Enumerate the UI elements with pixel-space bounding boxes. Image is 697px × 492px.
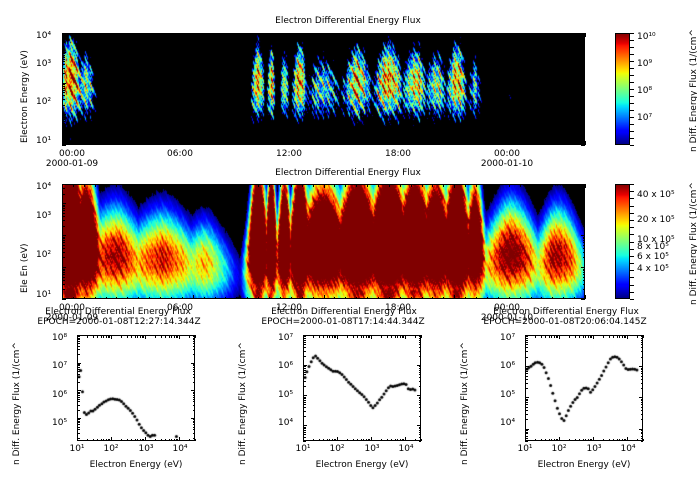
axis-tick (583, 289, 586, 290)
axis-tick (182, 184, 183, 187)
axis-tick (337, 335, 338, 339)
axis-tick (62, 269, 65, 270)
axis-tick (62, 289, 65, 290)
axis-tick (135, 439, 136, 442)
axis-tick (554, 335, 555, 338)
line3-xtick-0: 10¹ (506, 444, 544, 454)
colorbar-tick (630, 242, 634, 243)
axis-tick (545, 335, 546, 338)
axis-tick (419, 351, 422, 352)
axis-tick (225, 297, 226, 300)
axis-tick (62, 83, 66, 84)
axis-tick (62, 299, 66, 300)
axis-tick (345, 33, 346, 36)
axis-tick (581, 83, 585, 84)
axis-tick (509, 297, 510, 300)
axis-tick (62, 141, 63, 145)
axis-tick (641, 379, 644, 380)
axis-tick (193, 371, 196, 372)
axis-tick (77, 433, 80, 434)
colorbar-tick (630, 82, 634, 83)
axis-tick (140, 335, 141, 338)
axis-tick (182, 143, 183, 146)
axis-tick (641, 383, 644, 384)
axis-tick (617, 439, 618, 442)
spec2-cbtick-1: 20 x 10⁵ (637, 215, 675, 225)
axis-tick (103, 439, 104, 442)
axis-tick (247, 143, 248, 146)
axis-tick (62, 220, 65, 221)
axis-tick (641, 399, 644, 400)
axis-tick (498, 297, 499, 300)
spec1-ytick-0: 10⁴ (36, 31, 51, 41)
axis-tick (525, 432, 528, 433)
axis-tick (411, 33, 412, 36)
axis-tick (160, 184, 161, 187)
axis-tick (303, 377, 306, 378)
axis-tick (334, 33, 335, 36)
spec1-cbtick-1: 10⁹ (637, 59, 652, 69)
axis-tick (77, 364, 80, 365)
axis-tick (116, 143, 117, 146)
axis-tick (191, 363, 195, 364)
axis-tick (583, 117, 586, 118)
axis-tick (581, 235, 585, 236)
axis-tick (554, 439, 555, 442)
axis-tick (182, 297, 183, 300)
axis-tick (541, 33, 542, 36)
axis-tick (174, 335, 175, 338)
axis-tick (106, 439, 107, 442)
colorbar-tick (630, 198, 634, 199)
axis-tick (525, 404, 528, 405)
axis-tick (313, 335, 314, 338)
axis-tick (641, 432, 644, 433)
colorbar-tick (630, 110, 634, 111)
spectrogram-panel-1: Electron Differential Energy Flux Electr… (0, 0, 697, 175)
axis-tick (520, 143, 521, 146)
axis-tick (193, 401, 196, 402)
axis-tick (476, 143, 477, 146)
axis-tick (77, 374, 80, 375)
colorbar-tick (630, 145, 634, 146)
axis-tick (62, 280, 65, 281)
axis-tick (581, 145, 585, 146)
axis-tick (583, 61, 586, 62)
axis-tick (419, 347, 422, 348)
axis-tick (583, 86, 586, 87)
line1-ytick-1: 10⁷ (52, 361, 67, 371)
spec1-xtick-2: 12:00 (259, 149, 319, 159)
axis-tick (389, 297, 390, 300)
axis-tick (583, 57, 586, 58)
axis-tick (641, 419, 644, 420)
axis-tick (419, 338, 422, 339)
axis-tick (387, 335, 388, 338)
axis-tick (583, 136, 586, 137)
axis-tick (563, 184, 564, 187)
axis-tick (127, 297, 128, 300)
axis-tick (303, 395, 307, 396)
axis-tick (549, 335, 550, 338)
axis-tick (62, 270, 65, 271)
axis-tick (77, 405, 80, 406)
axis-tick (405, 335, 406, 339)
axis-tick (419, 400, 422, 401)
axis-tick (116, 33, 117, 36)
colorbar-tick (630, 292, 634, 293)
axis-tick (361, 439, 362, 442)
axis-tick (641, 388, 644, 389)
axis-tick (116, 184, 117, 187)
colorbar-tick (630, 191, 634, 192)
axis-tick (193, 33, 194, 37)
axis-tick (583, 284, 586, 285)
axis-tick (641, 368, 644, 369)
axis-tick (583, 92, 586, 93)
axis-tick (135, 335, 136, 338)
axis-tick (303, 425, 307, 426)
axis-tick (381, 335, 382, 338)
axis-tick (62, 213, 65, 214)
axis-tick (641, 410, 644, 411)
axis-tick (419, 340, 422, 341)
spec2-colorbar-frame (615, 184, 630, 299)
axis-tick (583, 88, 586, 89)
line1-ytick-2: 10⁶ (52, 390, 67, 400)
axis-tick (641, 338, 644, 339)
axis-tick (313, 297, 314, 300)
axis-tick (583, 59, 586, 60)
axis-tick (583, 335, 584, 338)
axis-tick (525, 388, 528, 389)
axis-tick (585, 335, 586, 338)
axis-tick (204, 33, 205, 36)
line2-ytick-2: 10⁵ (278, 390, 293, 400)
axis-tick (303, 416, 306, 417)
axis-tick (189, 335, 190, 338)
axis-tick (422, 297, 423, 300)
axis-tick (603, 439, 604, 442)
axis-tick (487, 33, 488, 36)
axis-tick (641, 430, 644, 431)
axis-tick (145, 437, 146, 441)
line3-xlabel: Electron Energy (eV) (504, 460, 664, 470)
colorbar-tick (630, 61, 634, 62)
axis-tick (411, 143, 412, 146)
axis-tick (361, 335, 362, 338)
colorbar-tick (630, 234, 634, 235)
axis-tick (189, 439, 190, 442)
axis-tick (111, 437, 112, 441)
axis-tick (179, 335, 180, 339)
axis-tick (639, 397, 643, 398)
axis-tick (77, 424, 80, 425)
axis-tick (641, 441, 644, 442)
colorbar-tick (630, 47, 634, 48)
axis-tick (77, 341, 80, 342)
axis-tick (193, 382, 196, 383)
colorbar-tick (630, 285, 634, 286)
axis-tick (476, 33, 477, 36)
axis-tick (498, 184, 499, 187)
axis-tick (454, 33, 455, 37)
axis-tick (62, 57, 65, 58)
axis-tick (149, 184, 150, 187)
axis-tick (97, 439, 98, 442)
axis-tick (84, 33, 85, 36)
axis-tick (541, 335, 542, 338)
axis-tick (62, 52, 66, 53)
axis-tick (551, 335, 552, 338)
axis-tick (87, 335, 88, 338)
axis-tick (193, 295, 194, 299)
axis-tick (160, 297, 161, 300)
axis-tick (165, 335, 166, 338)
axis-tick (93, 335, 94, 338)
axis-tick (541, 439, 542, 442)
axis-tick (73, 184, 74, 187)
axis-tick (371, 437, 372, 441)
axis-tick (581, 203, 585, 204)
colorbar-tick (630, 256, 634, 257)
axis-tick (391, 439, 392, 442)
axis-tick (641, 344, 644, 345)
axis-tick (77, 429, 80, 430)
axis-tick (303, 381, 306, 382)
axis-tick (419, 368, 422, 369)
axis-tick (62, 242, 65, 243)
axis-tick (525, 407, 528, 408)
axis-tick (171, 33, 172, 36)
axis-tick (193, 427, 196, 428)
axis-tick (465, 143, 466, 146)
axis-tick (569, 439, 570, 442)
axis-tick (443, 184, 444, 187)
axis-tick (62, 55, 65, 56)
spec1-title: Electron Differential Energy Flux (228, 16, 468, 26)
axis-tick (225, 184, 226, 187)
axis-tick (583, 121, 586, 122)
axis-tick (303, 342, 306, 343)
axis-tick (313, 184, 314, 187)
axis-tick (367, 297, 368, 300)
axis-tick (583, 242, 586, 243)
axis-tick (302, 143, 303, 146)
axis-tick (419, 398, 422, 399)
axis-tick (62, 205, 65, 206)
axis-tick (103, 335, 104, 338)
axis-tick (131, 335, 132, 338)
axis-tick (639, 366, 643, 367)
axis-tick (247, 184, 248, 187)
axis-tick (62, 277, 65, 278)
axis-tick (583, 270, 586, 271)
axis-tick (77, 399, 80, 400)
axis-tick (62, 240, 65, 241)
axis-tick (77, 422, 80, 423)
axis-tick (193, 354, 196, 355)
axis-tick (579, 439, 580, 442)
axis-tick (334, 143, 335, 146)
axis-tick (303, 347, 306, 348)
axis-tick (77, 418, 81, 419)
axis-tick (419, 374, 422, 375)
axis-tick (563, 33, 564, 36)
axis-tick (525, 366, 529, 367)
axis-tick (303, 338, 306, 339)
axis-tick (641, 340, 644, 341)
axis-tick (400, 143, 401, 146)
axis-tick (583, 213, 586, 214)
axis-tick (525, 340, 528, 341)
axis-tick (574, 143, 575, 146)
axis-tick (432, 184, 433, 187)
line2-ylabel: n Diff. Energy Flux (1/(cm^ (238, 342, 248, 465)
axis-tick (62, 226, 65, 227)
axis-tick (337, 437, 338, 441)
axis-tick (62, 238, 65, 239)
axis-tick (583, 216, 586, 217)
line1-frame (77, 335, 195, 441)
axis-tick (419, 377, 422, 378)
axis-tick (291, 33, 292, 36)
axis-tick (585, 33, 586, 37)
axis-tick (525, 347, 528, 348)
axis-tick (324, 141, 325, 145)
axis-tick (391, 335, 392, 338)
axis-tick (291, 184, 292, 187)
axis-tick (193, 141, 194, 145)
spec2-title: Electron Differential Energy Flux (228, 168, 468, 178)
axis-tick (62, 267, 66, 268)
axis-tick (193, 419, 196, 420)
axis-tick (193, 364, 196, 365)
axis-tick (62, 64, 65, 65)
axis-tick (641, 402, 644, 403)
axis-tick (552, 143, 553, 146)
axis-tick (583, 220, 586, 221)
axis-tick (193, 341, 196, 342)
line3-xtick-3: 10⁴ (609, 444, 647, 454)
axis-tick (95, 184, 96, 187)
colorbar-tick (630, 299, 634, 300)
axis-tick (417, 365, 421, 366)
spec1-xtick-0: 00:00 (42, 149, 102, 159)
axis-tick (77, 419, 80, 420)
axis-tick (367, 184, 368, 187)
axis-tick (127, 439, 128, 442)
axis-tick (303, 356, 306, 357)
axis-tick (62, 295, 63, 299)
axis-tick (303, 430, 306, 431)
axis-tick (169, 439, 170, 442)
axis-tick (531, 143, 532, 146)
axis-tick (193, 410, 196, 411)
axis-tick (381, 439, 382, 442)
axis-tick (171, 143, 172, 146)
axis-tick (127, 335, 128, 338)
axis-tick (395, 439, 396, 442)
axis-tick (62, 235, 66, 236)
axis-tick (193, 399, 196, 400)
axis-tick (583, 274, 586, 275)
axis-tick (215, 33, 216, 36)
axis-tick (137, 335, 138, 338)
axis-tick (525, 400, 528, 401)
spec1-xtick-1: 06:00 (150, 149, 210, 159)
axis-tick (641, 357, 644, 358)
axis-tick (332, 439, 333, 442)
axis-tick (356, 33, 357, 36)
axis-tick (236, 143, 237, 146)
axis-tick (422, 33, 423, 36)
axis-tick (581, 299, 585, 300)
axis-tick (62, 184, 63, 188)
axis-tick (583, 73, 586, 74)
axis-tick (525, 371, 528, 372)
axis-tick (303, 441, 306, 442)
axis-tick (525, 414, 528, 415)
axis-tick (525, 336, 528, 337)
line1-ytick-0: 10⁸ (52, 333, 67, 343)
axis-tick (585, 184, 586, 188)
axis-tick (62, 86, 65, 87)
axis-tick (291, 143, 292, 146)
axis-tick (236, 184, 237, 187)
axis-tick (641, 376, 644, 377)
axis-tick (619, 439, 620, 442)
axis-tick (77, 336, 80, 337)
axis-tick (77, 382, 80, 383)
colorbar-tick (630, 206, 634, 207)
axis-tick (303, 335, 307, 336)
axis-tick (525, 373, 528, 374)
line-panel-1: Electron Differential Energy Flux EPOCH=… (0, 305, 232, 492)
axis-tick (583, 126, 586, 127)
axis-tick (77, 410, 80, 411)
axis-tick (302, 184, 303, 187)
axis-tick (525, 379, 528, 380)
axis-tick (62, 145, 66, 146)
axis-tick (419, 370, 422, 371)
axis-tick (541, 143, 542, 146)
line2-xtick-0: 10¹ (284, 444, 322, 454)
axis-tick (641, 369, 644, 370)
axis-tick (193, 184, 194, 188)
axis-tick (269, 33, 270, 36)
axis-tick (106, 297, 107, 300)
axis-tick (62, 257, 65, 258)
axis-tick (323, 335, 324, 338)
axis-tick (465, 184, 466, 187)
spec1-cbtick-2: 10⁸ (637, 86, 652, 96)
axis-tick (77, 390, 81, 391)
axis-tick (138, 33, 139, 36)
axis-tick (583, 277, 586, 278)
axis-tick (639, 429, 643, 430)
axis-tick (525, 402, 528, 403)
axis-tick (193, 422, 196, 423)
axis-tick (419, 336, 422, 337)
axis-tick (487, 184, 488, 187)
axis-tick (345, 184, 346, 187)
axis-tick (498, 33, 499, 36)
axis-tick (302, 33, 303, 36)
axis-tick (62, 123, 65, 124)
axis-tick (303, 432, 306, 433)
axis-tick (329, 335, 330, 338)
